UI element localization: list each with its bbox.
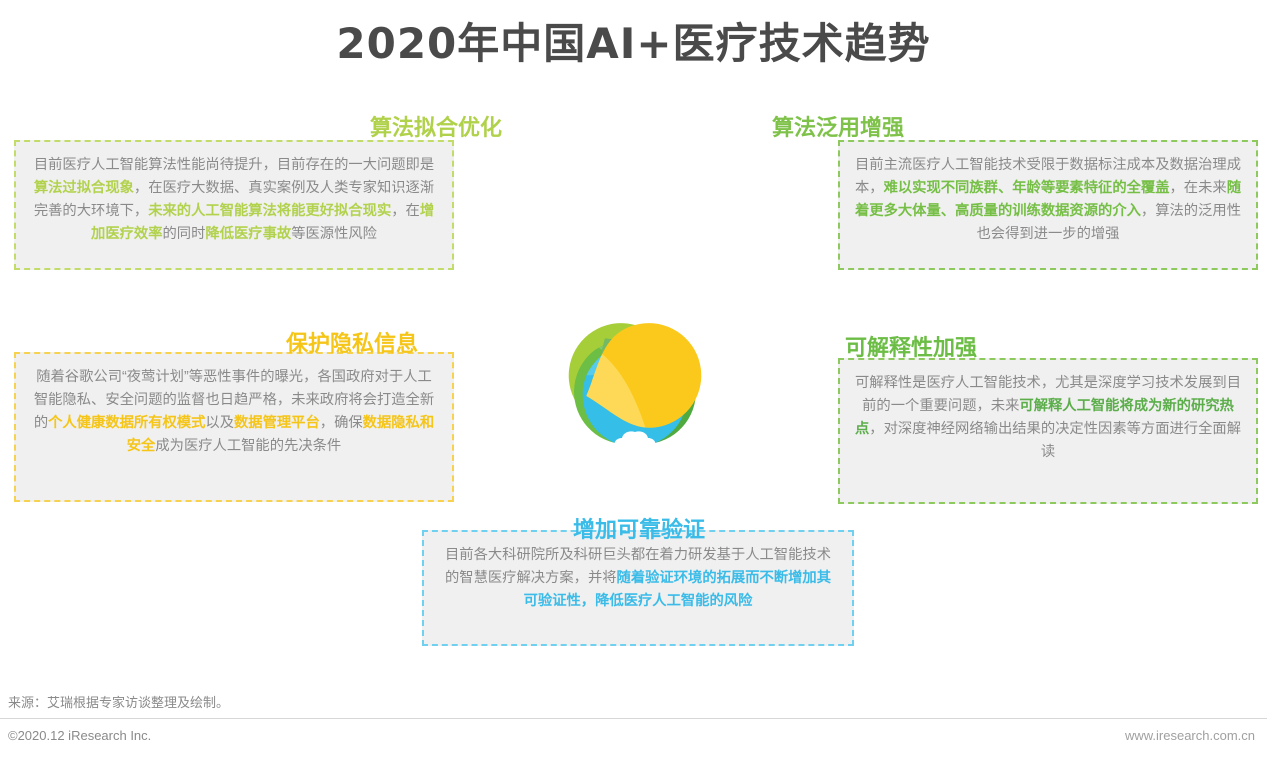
ai-file-icon: AI (741, 339, 781, 391)
flower-diagram: AI AI (455, 128, 815, 518)
ai-document-chart-icon: AI (490, 339, 530, 391)
heading-explainability: 可解释性加强 (845, 330, 977, 362)
website-link[interactable]: www.iresearch.com.cn (1125, 728, 1255, 743)
textbox-explainability: 可解释性是医疗人工智能技术，尤其是深度学习技术发展到目前的一个重要问题，未来可解… (838, 358, 1258, 504)
textbox-body: 目前各大科研院所及科研巨头都在着力研发基于人工智能技术的智慧医疗解决方案，并将随… (438, 544, 838, 613)
svg-text:AI: AI (504, 376, 517, 391)
textbox-body: 可解释性是医疗人工智能技术，尤其是深度学习技术发展到目前的一个重要问题，未来可解… (854, 372, 1242, 464)
textbox-body: 目前主流医疗人工智能技术受限于数据标注成本及数据治理成本，难以实现不同族群、年龄… (854, 154, 1242, 246)
source-note: 来源：艾瑞根据专家访谈整理及绘制。 (8, 692, 229, 711)
heading-algorithm-general: 算法泛用增强 (772, 110, 904, 142)
heading-verification: 增加可靠验证 (573, 512, 705, 544)
network-nodes-icon (695, 177, 741, 227)
infographic-page: 2020年中国AI+医疗技术趋势 算法拟合优化 算法泛用增强 保护隐私信息 可解… (0, 0, 1267, 762)
textbox-algorithm-fit: 目前医疗人工智能算法性能尚待提升，目前存在的一大问题即是算法过拟合现象，在医疗大… (14, 140, 454, 270)
ai-document-graph-icon: AI (523, 178, 563, 230)
heading-privacy: 保护隐私信息 (286, 326, 418, 358)
textbox-body: 目前医疗人工智能算法性能尚待提升，目前存在的一大问题即是算法过拟合现象，在医疗大… (30, 154, 438, 246)
page-title: 2020年中国AI+医疗技术趋势 (0, 10, 1267, 71)
textbox-algorithm-general: 目前主流医疗人工智能技术受限于数据标注成本及数据治理成本，难以实现不同族群、年龄… (838, 140, 1258, 270)
copyright-note: ©2020.12 iResearch Inc. (8, 728, 151, 743)
svg-text:AI: AI (537, 215, 550, 230)
footer-divider (0, 718, 1267, 719)
svg-text:AI: AI (755, 364, 768, 379)
textbox-privacy: 随着谷歌公司“夜莺计划”等恶性事件的曝光，各国政府对于人工智能隐私、安全问题的监… (14, 352, 454, 502)
textbox-body: 随着谷歌公司“夜莺计划”等恶性事件的曝光，各国政府对于人工智能隐私、安全问题的监… (30, 366, 438, 458)
petal-left[interactable] (484, 286, 725, 502)
heading-algorithm-fit: 算法拟合优化 (370, 110, 502, 142)
textbox-verification: 目前各大科研院所及科研巨头都在着力研发基于人工智能技术的智慧医疗解决方案，并将随… (422, 530, 854, 646)
